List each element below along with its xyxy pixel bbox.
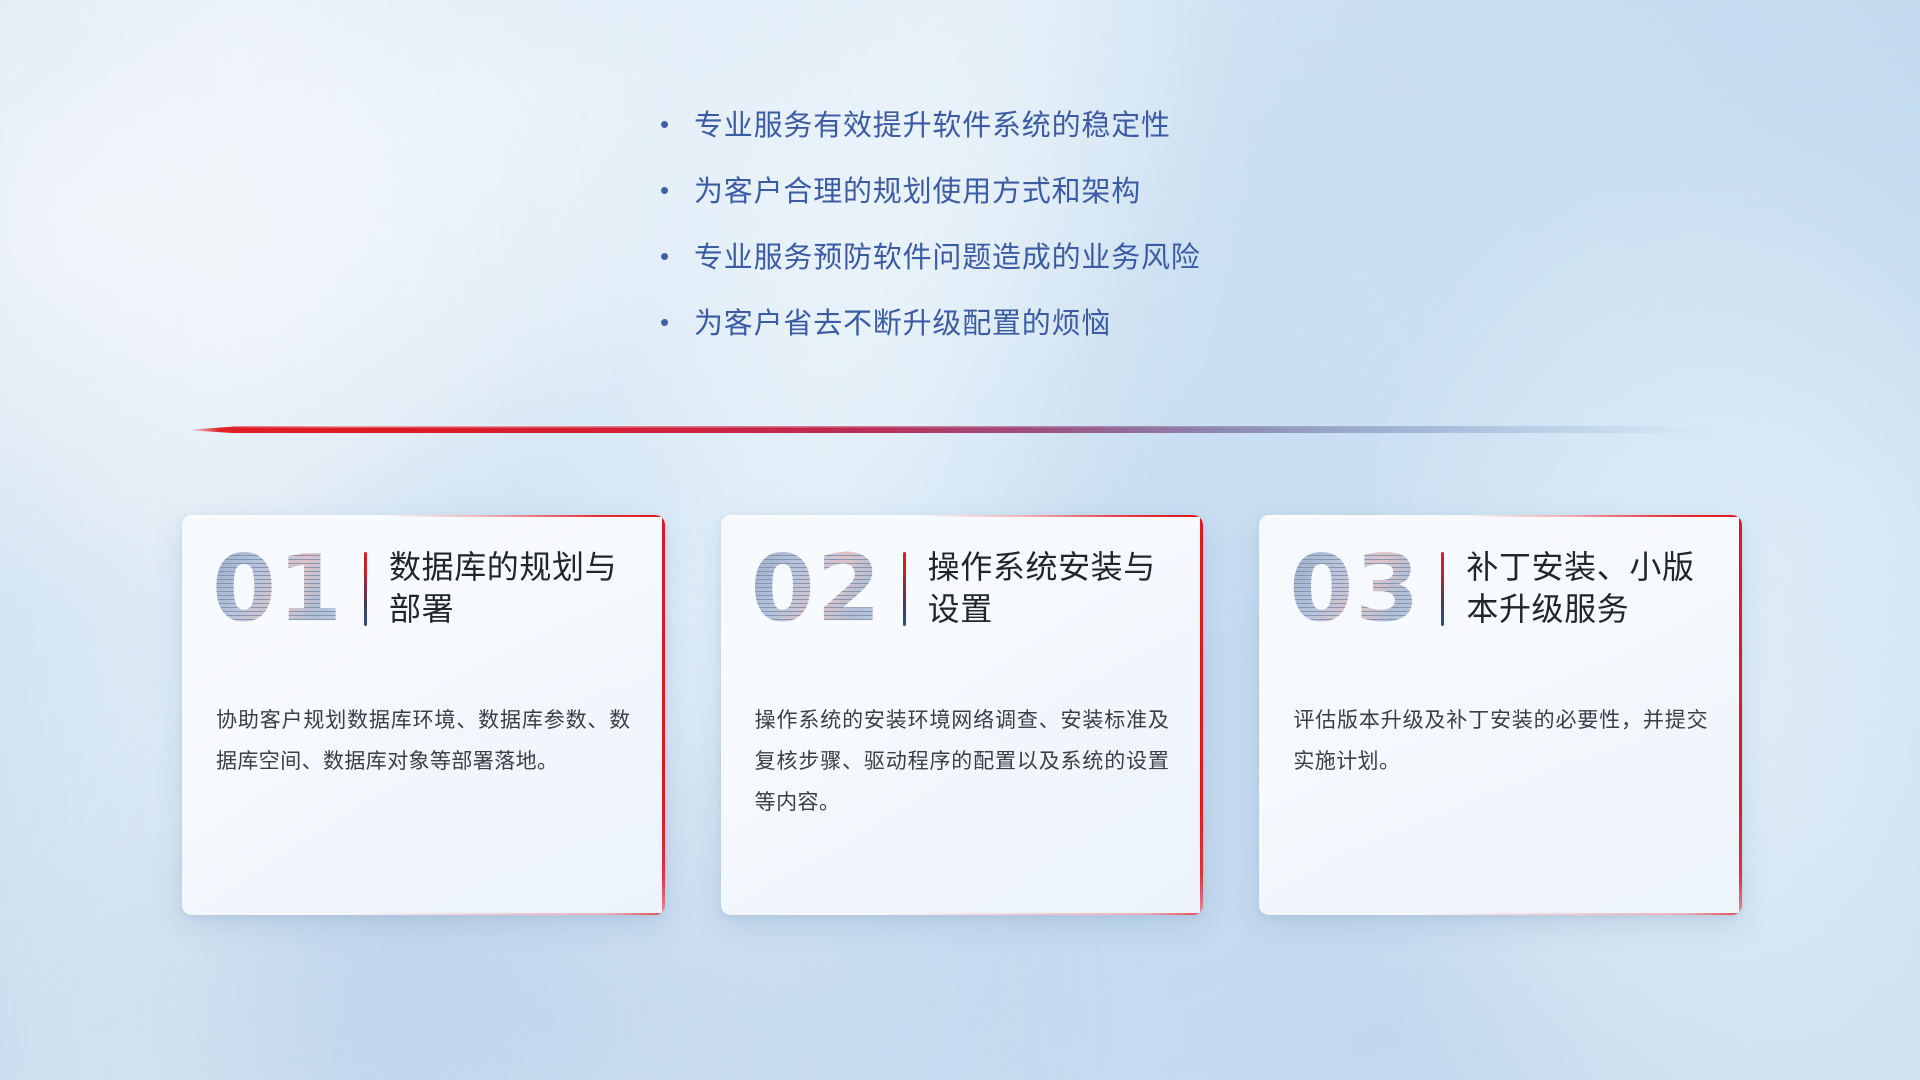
card-title-divider [903, 552, 906, 626]
card-header: 02 操作系统安装与设置 [721, 515, 1204, 663]
card-title: 补丁安装、小版本升级服务 [1466, 547, 1716, 630]
card-title-divider [1441, 552, 1444, 626]
bullet-dot-icon: • [660, 177, 694, 203]
bullet-text: 为客户合理的规划使用方式和架构 [694, 174, 1141, 211]
card-description: 协助客户规划数据库环境、数据库参数、数据库空间、数据库对象等部署落地。 [182, 663, 665, 783]
service-card-group: 01 数据库的规划与部署 协助客户规划数据库环境、数据库参数、数据库空间、数据库… [182, 515, 1742, 915]
bullet-dot-icon: • [660, 309, 694, 335]
list-item: • 专业服务预防软件问题造成的业务风险 [660, 240, 1440, 277]
divider-gradient-line [186, 426, 1726, 433]
card-number: 02 [751, 543, 899, 635]
card-description: 评估版本升级及补丁安装的必要性，并提交实施计划。 [1259, 663, 1742, 783]
list-item: • 为客户合理的规划使用方式和架构 [660, 174, 1440, 211]
benefits-bullet-list: • 专业服务有效提升软件系统的稳定性 • 为客户合理的规划使用方式和架构 • 专… [660, 108, 1440, 372]
bullet-dot-icon: • [660, 111, 694, 137]
card-bottom-accent [1259, 913, 1742, 915]
list-item: • 专业服务有效提升软件系统的稳定性 [660, 108, 1440, 145]
card-title: 操作系统安装与设置 [928, 547, 1178, 630]
card-description: 操作系统的安装环境网络调查、安装标准及复核步骤、驱动程序的配置以及系统的设置等内… [721, 663, 1204, 824]
section-divider [186, 422, 1726, 438]
card-bottom-accent [182, 913, 665, 915]
list-item: • 为客户省去不断升级配置的烦恼 [660, 306, 1440, 343]
card-header: 03 补丁安装、小版本升级服务 [1259, 515, 1742, 663]
bullet-dot-icon: • [660, 243, 694, 269]
slide-canvas: • 专业服务有效提升软件系统的稳定性 • 为客户合理的规划使用方式和架构 • 专… [0, 0, 1920, 1080]
card-number: 01 [212, 543, 360, 635]
card-title-divider [364, 552, 367, 626]
bullet-text: 专业服务预防软件问题造成的业务风险 [694, 240, 1201, 277]
card-header: 01 数据库的规划与部署 [182, 515, 665, 663]
service-card[interactable]: 01 数据库的规划与部署 协助客户规划数据库环境、数据库参数、数据库空间、数据库… [182, 515, 665, 915]
card-number: 03 [1289, 543, 1437, 635]
bullet-text: 为客户省去不断升级配置的烦恼 [694, 306, 1111, 343]
card-bottom-accent [721, 913, 1204, 915]
card-title: 数据库的规划与部署 [389, 547, 639, 630]
bullet-text: 专业服务有效提升软件系统的稳定性 [694, 108, 1171, 145]
service-card[interactable]: 02 操作系统安装与设置 操作系统的安装环境网络调查、安装标准及复核步骤、驱动程… [721, 515, 1204, 915]
service-card[interactable]: 03 补丁安装、小版本升级服务 评估版本升级及补丁安装的必要性，并提交实施计划。 [1259, 515, 1742, 915]
